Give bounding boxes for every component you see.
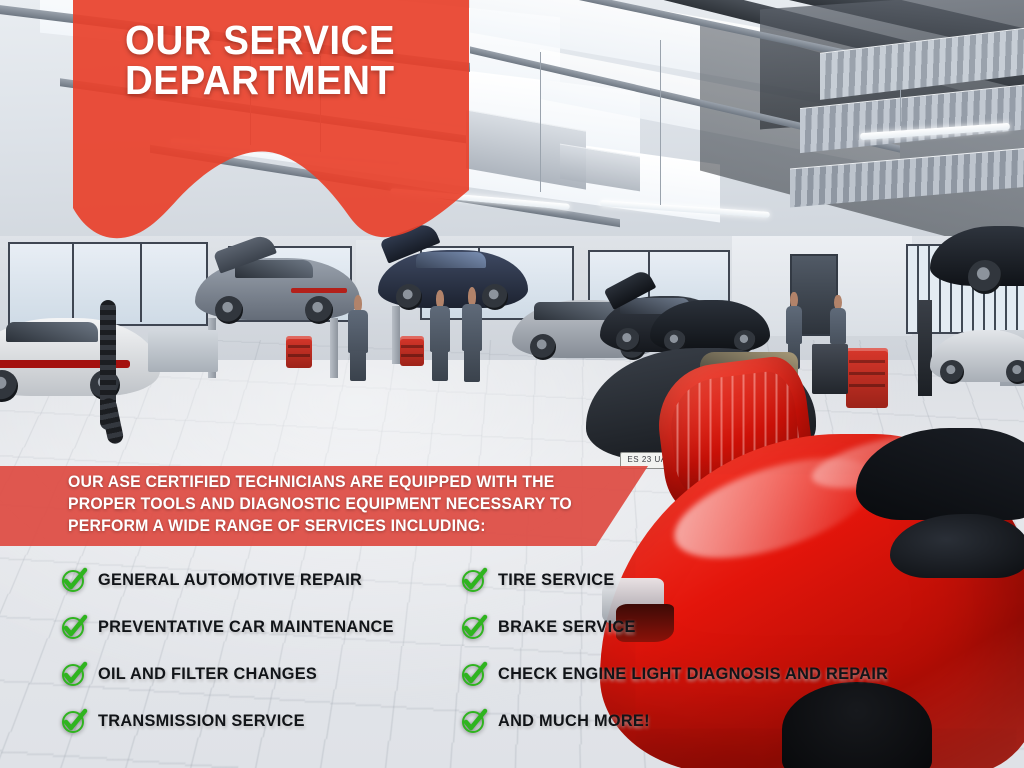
service-label: BRAKE SERVICE (498, 617, 636, 637)
check-icon (60, 707, 88, 735)
service-department-flyer: ES 23 UA OUR SERVICE DEPARTMENT (0, 0, 1024, 768)
red-tool-cabinet (846, 348, 888, 408)
list-item: TRANSMISSION SERVICE (60, 697, 480, 744)
mechanic (462, 304, 482, 380)
check-icon (60, 566, 88, 594)
list-item: AND MUCH MORE! (460, 697, 1020, 744)
list-item: OIL AND FILTER CHANGES (60, 650, 480, 697)
check-icon (60, 660, 88, 688)
statement-banner: OUR ASE CERTIFIED TECHNICIANS ARE EQUIPP… (0, 462, 660, 554)
service-label: AND MUCH MORE! (498, 711, 650, 731)
service-label: CHECK ENGINE LIGHT DIAGNOSIS AND REPAIR (498, 664, 888, 684)
services-list: GENERAL AUTOMOTIVE REPAIR PREVENTATIVE C… (0, 556, 1024, 736)
mechanic (430, 306, 450, 380)
equipment-cart (812, 344, 848, 394)
list-item: TIRE SERVICE (460, 556, 1020, 603)
title-line-2: DEPARTMENT (125, 60, 435, 100)
list-item: BRAKE SERVICE (460, 603, 1020, 650)
check-icon (460, 566, 488, 594)
list-item: CHECK ENGINE LIGHT DIAGNOSIS AND REPAIR (460, 650, 1020, 697)
car-black-convertible (650, 300, 770, 352)
service-label: TRANSMISSION SERVICE (98, 711, 305, 731)
services-column-right: TIRE SERVICE BRAKE SERVICE CHECK ENGINE … (460, 556, 1020, 744)
check-icon (60, 613, 88, 641)
car-black-suv-on-lift (930, 226, 1024, 286)
car-silver-porsche-right (930, 330, 1024, 382)
title-line-1: OUR SERVICE (125, 17, 395, 63)
services-column-left: GENERAL AUTOMOTIVE REPAIR PREVENTATIVE C… (60, 556, 480, 744)
service-label: TIRE SERVICE (498, 570, 615, 590)
title-text: OUR SERVICE DEPARTMENT (125, 20, 435, 100)
service-label: PREVENTATIVE CAR MAINTENANCE (98, 617, 394, 637)
mechanic (348, 310, 368, 380)
red-tool-cabinet (286, 336, 312, 368)
car-blue-on-lift (378, 250, 528, 308)
statement-text: OUR ASE CERTIFIED TECHNICIANS ARE EQUIPP… (68, 472, 586, 538)
check-icon (460, 613, 488, 641)
title-banner: OUR SERVICE DEPARTMENT (73, 0, 469, 244)
list-item: PREVENTATIVE CAR MAINTENANCE (60, 603, 480, 650)
car-grey-porsche-on-lift (195, 258, 360, 320)
service-label: GENERAL AUTOMOTIVE REPAIR (98, 570, 362, 590)
list-item: GENERAL AUTOMOTIVE REPAIR (60, 556, 480, 603)
check-icon (460, 707, 488, 735)
workbench (148, 330, 218, 372)
check-icon (460, 660, 488, 688)
red-tool-cabinet (400, 336, 424, 366)
car-white-porsche (0, 318, 160, 396)
service-label: OIL AND FILTER CHANGES (98, 664, 317, 684)
